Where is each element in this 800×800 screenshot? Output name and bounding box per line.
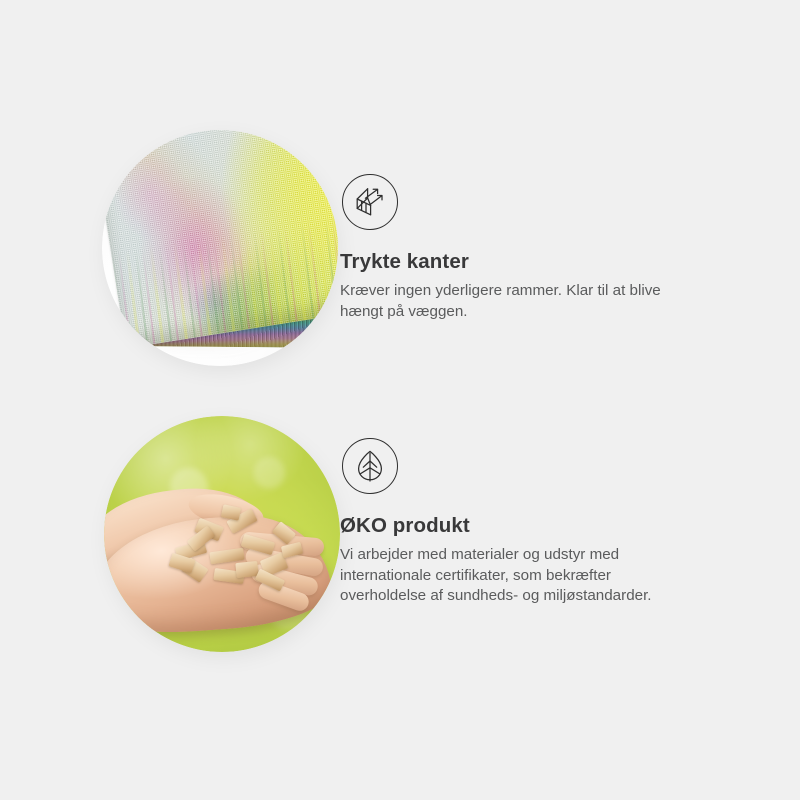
feature-photo-wrap — [0, 414, 340, 654]
feature-title: Trykte kanter — [340, 250, 680, 274]
canvas-block — [102, 130, 338, 366]
canvas-painted-face — [102, 130, 338, 349]
photo-clip — [104, 416, 340, 652]
feature-text-column: Trykte kanter Kræver ingen yderligere ra… — [340, 130, 720, 322]
hands-holding-wood-chips-photo — [104, 416, 340, 652]
feature-title: ØKO produkt — [340, 514, 680, 538]
feature-description: Vi arbejder med materialer og udstyr med… — [340, 545, 680, 607]
hands-group — [104, 490, 340, 640]
canvas-print-corner-photo — [102, 130, 338, 366]
feature-text-column: ØKO produkt Vi arbejder med materialer o… — [340, 414, 720, 607]
photo-clip — [102, 130, 338, 366]
wrapped-canvas-edge-icon — [342, 174, 398, 230]
feature-list-page: Trykte kanter Kræver ingen yderligere ra… — [0, 0, 800, 800]
leaf-icon — [342, 438, 398, 494]
feature-block-oko-produkt: ØKO produkt Vi arbejder med materialer o… — [0, 414, 720, 654]
feature-block-trykte-kanter: Trykte kanter Kræver ingen yderligere ra… — [0, 130, 720, 370]
feature-description: Kræver ingen yderligere rammer. Klar til… — [340, 281, 680, 322]
wood-chips-pile — [170, 504, 310, 600]
feature-photo-wrap — [0, 130, 340, 370]
